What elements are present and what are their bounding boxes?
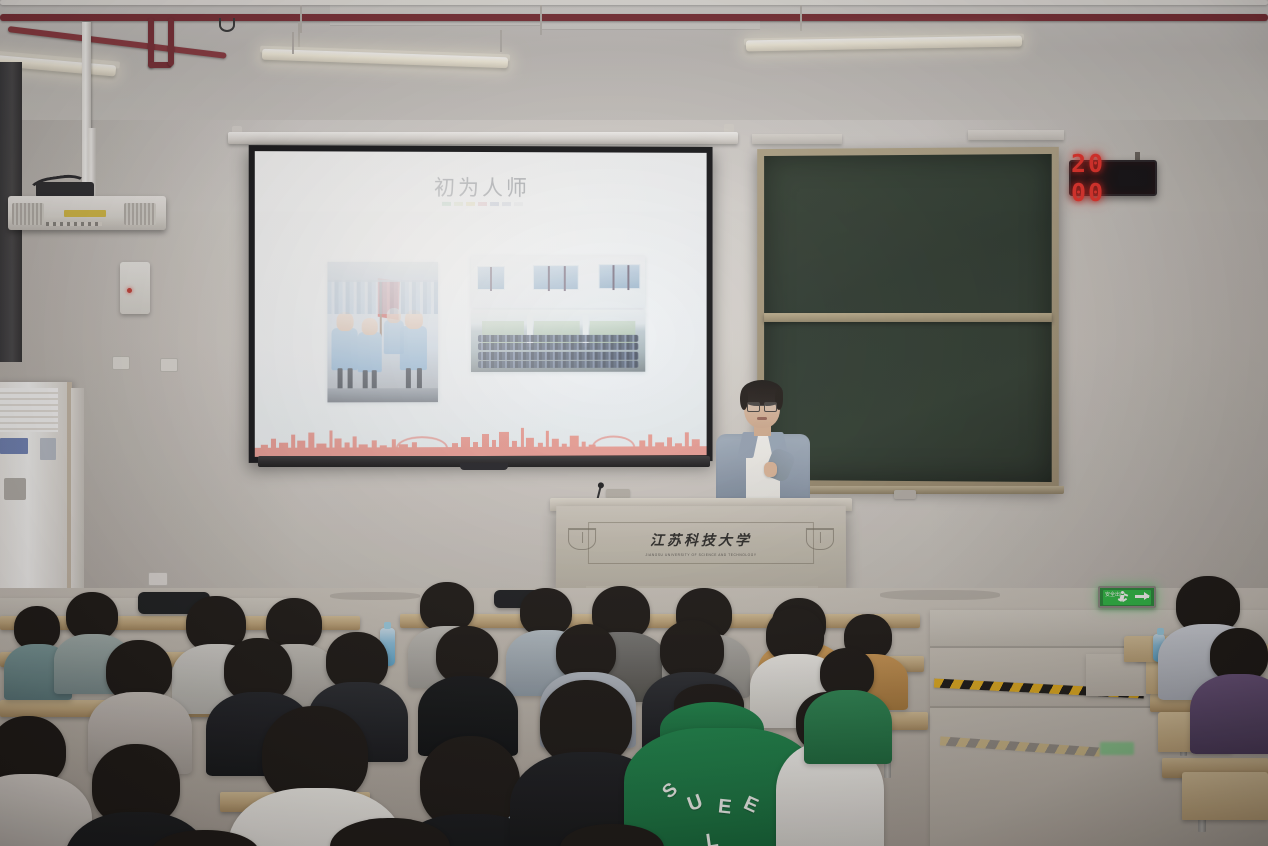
wall-sensor-box <box>120 262 150 314</box>
projector-vent <box>124 203 156 225</box>
ac-label <box>40 438 56 460</box>
ac-side-panel <box>71 388 84 614</box>
blackboard-panel-divider <box>764 313 1052 322</box>
projector-ports <box>46 222 102 226</box>
hanging-cable <box>219 18 235 32</box>
photo-children-marching <box>327 262 438 403</box>
wall-outlet <box>148 572 168 586</box>
presenter <box>702 380 822 510</box>
lectern: 江苏科技大学 JIANGSU UNIVERSITY OF SCIENCE AND… <box>556 506 846 588</box>
running-figure-icon <box>1117 591 1128 604</box>
wall-scuff <box>880 590 1000 600</box>
ac-control-panel[interactable] <box>4 478 26 500</box>
swatch <box>441 202 450 206</box>
swatch <box>465 202 474 206</box>
board-top-trim <box>968 130 1064 140</box>
lectern-item[interactable] <box>894 490 916 499</box>
digital-wall-clock: 20 00 <box>1069 160 1157 196</box>
air-conditioner[interactable] <box>0 382 72 620</box>
projection-screen: 初为人师 <box>249 145 713 463</box>
photo-school-building <box>471 256 645 308</box>
lecture-hall-photo: 初为人师 <box>0 0 1268 846</box>
wall-outlet <box>160 358 178 372</box>
projector-vent <box>12 203 44 225</box>
ac-grille <box>0 388 58 432</box>
light-hanger <box>292 32 294 54</box>
clock-display: 20 00 <box>1071 149 1155 207</box>
screen-roller-housing[interactable] <box>228 132 738 144</box>
slide-title: 初为人师 <box>255 171 707 202</box>
light-hanger <box>500 30 502 52</box>
exit-sign-floor-reflection <box>1100 742 1134 755</box>
sprinkler-drop-pipe <box>148 18 154 68</box>
exit-arrow-icon <box>1135 595 1149 598</box>
pipe-hanger <box>540 5 542 35</box>
exit-sign: 安全出口 <box>1098 586 1156 608</box>
pipe-hanger <box>300 5 302 33</box>
wall-scuff <box>330 592 420 600</box>
sensor-led <box>127 288 132 293</box>
screen-pull-tab[interactable] <box>460 463 508 470</box>
ac-label <box>0 438 28 454</box>
wall-outlet <box>112 356 130 370</box>
photo-class-group <box>471 310 645 372</box>
mouth <box>757 417 767 420</box>
hand <box>764 462 777 477</box>
swatch <box>513 202 522 206</box>
exit-sign-face: 安全出口 <box>1103 590 1151 605</box>
projector-label <box>64 210 106 217</box>
sprinkler-pipe-main <box>0 14 1268 21</box>
slide-skyline-footer <box>255 413 707 457</box>
pipe-hanger <box>800 5 802 31</box>
presentation-slide: 初为人师 <box>255 151 707 457</box>
sprinkler-riser <box>168 18 174 66</box>
swatch <box>489 202 498 206</box>
swatch <box>501 202 510 206</box>
seat-back[interactable] <box>1182 772 1268 820</box>
ceiling-conduit <box>0 0 1268 5</box>
swatch <box>478 202 487 206</box>
lectern-remote[interactable] <box>606 489 630 498</box>
glasses-icon <box>747 402 777 410</box>
university-name-cn: 江苏科技大学 <box>650 530 752 550</box>
board-top-trim <box>752 134 842 144</box>
lectern-name-plate: 江苏科技大学 JIANGSU UNIVERSITY OF SCIENCE AND… <box>588 522 814 564</box>
university-name-en: JIANGSU UNIVERSITY OF SCIENCE AND TECHNO… <box>645 552 756 556</box>
slide-swatch-row <box>255 201 707 206</box>
hoodie-letter: E <box>717 795 734 819</box>
bench-row-far-center <box>400 614 920 628</box>
swatch <box>453 202 462 206</box>
